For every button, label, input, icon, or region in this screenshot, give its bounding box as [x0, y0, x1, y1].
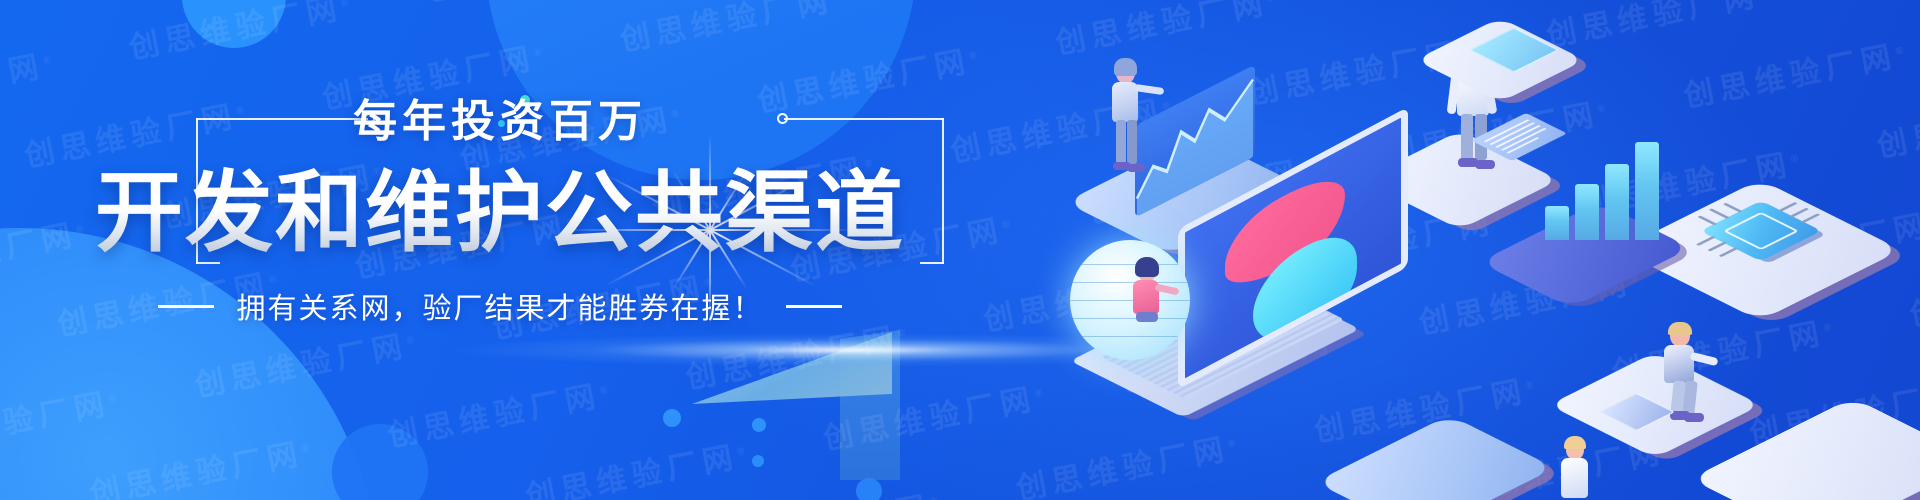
platform-bottom-left — [1315, 415, 1555, 500]
frame-line-bottom-left — [196, 262, 220, 264]
isometric-illustration — [960, 0, 1920, 500]
frame-line-bottom-right — [920, 262, 944, 264]
bar-3 — [1605, 164, 1629, 240]
subtitle-text: 拥有关系网，验厂结果才能胜券在握！ — [236, 285, 763, 327]
headline-text: 开发和维护公共渠道 — [0, 165, 1000, 260]
globe-sphere — [1070, 240, 1190, 360]
subtitle-dash-right — [786, 305, 842, 308]
copy-block: 每年投资百万 开发和维护公共渠道 拥有关系网，验厂结果才能胜券在握！ — [0, 0, 1000, 500]
bar-2 — [1575, 184, 1599, 240]
subtitle-row: 拥有关系网，验厂结果才能胜券在握！ — [0, 285, 1000, 327]
subtitle-dash-left — [158, 305, 214, 308]
eyebrow-text: 每年投资百万 — [0, 100, 1000, 144]
bar-1 — [1545, 206, 1569, 240]
promo-banner: 创思维验厂网®创思维验厂网®创思维验厂网®创思维验厂网®创思维验厂网®创思维验厂… — [0, 0, 1920, 500]
bar-4 — [1635, 142, 1659, 240]
